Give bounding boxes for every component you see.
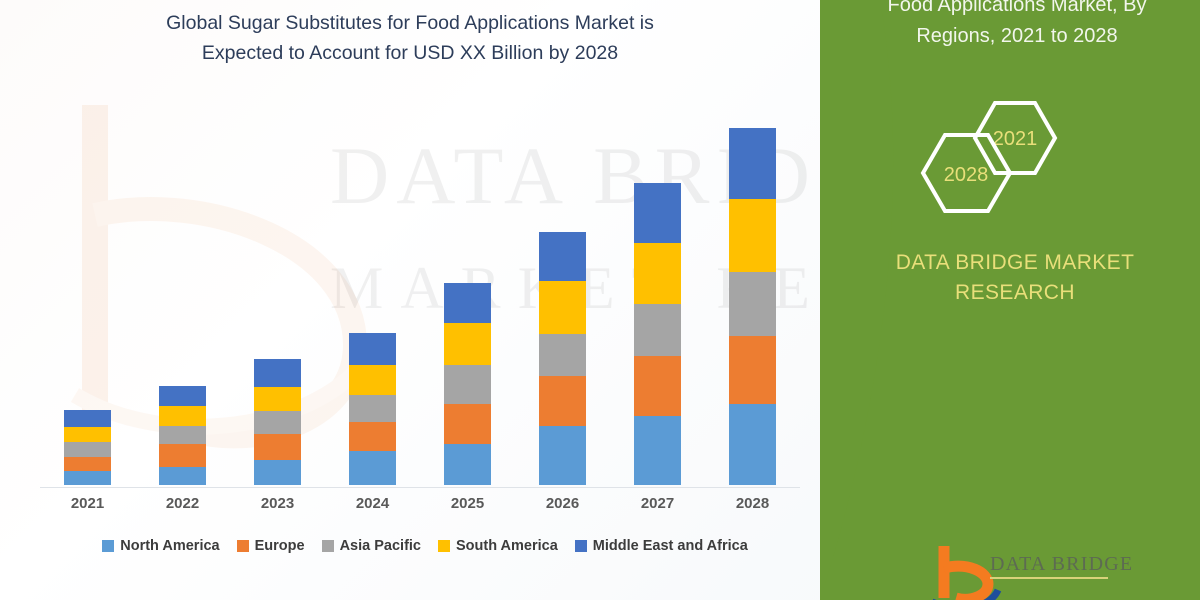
- stacked-bar-2025: [444, 283, 491, 485]
- bar-segment: [159, 386, 206, 406]
- legend-label: North America: [120, 538, 219, 554]
- bar-segment: [539, 376, 586, 426]
- bar-segment: [254, 460, 301, 486]
- legend-label: South America: [456, 538, 558, 554]
- bar-segment: [349, 422, 396, 452]
- bar-segment: [634, 243, 681, 304]
- chart-pane: DATA BRIDGE MARKET RESEARCH Global Sugar…: [0, 0, 880, 600]
- stacked-bar-2026: [539, 232, 586, 485]
- bar-column: [328, 100, 418, 485]
- bar-segment: [444, 283, 491, 323]
- data-bridge-logo-icon: DATA BRIDGE: [928, 542, 1178, 600]
- bar-segment: [159, 444, 206, 466]
- stacked-bar-2022: [159, 386, 206, 485]
- bar-segment: [64, 457, 111, 471]
- bar-column: [423, 100, 513, 485]
- bar-segment: [254, 434, 301, 460]
- legend-label: Middle East and Africa: [593, 538, 748, 554]
- bar-segment: [729, 404, 776, 485]
- bar-column: [138, 100, 228, 485]
- bar-segment: [539, 281, 586, 334]
- panel-title-line1: Food Applications Market, By: [852, 0, 1182, 21]
- stacked-bar-2023: [254, 359, 301, 485]
- legend-label: Europe: [255, 538, 305, 554]
- page-title-line2: Expected to Account for USD XX Billion b…: [60, 38, 760, 68]
- chart-legend: North AmericaEuropeAsia PacificSouth Ame…: [40, 538, 810, 554]
- stacked-bar-2024: [349, 333, 396, 485]
- bar-segment: [349, 333, 396, 365]
- bar-column: [233, 100, 323, 485]
- brand-name: DATA BRIDGE MARKET RESEARCH: [850, 248, 1180, 308]
- bar-segment: [159, 406, 206, 426]
- x-axis-label-2024: 2024: [328, 495, 418, 512]
- legend-label: Asia Pacific: [340, 538, 421, 554]
- legend-swatch-icon: [575, 540, 587, 552]
- x-axis-label-2026: 2026: [518, 495, 608, 512]
- brand-name-line2: RESEARCH: [850, 278, 1180, 308]
- bar-segment: [64, 427, 111, 441]
- plot-area: [40, 100, 800, 488]
- bar-segment: [254, 359, 301, 387]
- bar-segment: [254, 387, 301, 411]
- bar-segment: [64, 471, 111, 485]
- page-title: Global Sugar Substitutes for Food Applic…: [60, 8, 760, 68]
- bar-segment: [634, 416, 681, 485]
- brand-panel: Food Applications Market, By Regions, 20…: [820, 0, 1200, 600]
- bar-segment: [254, 411, 301, 434]
- legend-swatch-icon: [322, 540, 334, 552]
- bar-segment: [349, 365, 396, 395]
- x-axis-label-2025: 2025: [423, 495, 513, 512]
- bar-group: [40, 100, 800, 485]
- hexagon-2028-label: 2028: [944, 164, 989, 186]
- legend-item[interactable]: Middle East and Africa: [575, 538, 748, 554]
- hexagon-badges: 2021 2028: [900, 95, 1130, 225]
- bar-segment: [64, 442, 111, 457]
- bar-segment: [634, 356, 681, 416]
- legend-item[interactable]: Asia Pacific: [322, 538, 421, 554]
- x-axis-labels: 20212022202320242025202620272028: [40, 495, 800, 512]
- bar-segment: [539, 426, 586, 485]
- x-axis-label-2028: 2028: [708, 495, 798, 512]
- page-title-line1: Global Sugar Substitutes for Food Applic…: [60, 8, 760, 38]
- bar-column: [708, 100, 798, 485]
- bar-column: [43, 100, 133, 485]
- x-axis-line: [40, 487, 800, 488]
- bar-segment: [444, 404, 491, 445]
- infographic-root: DATA BRIDGE MARKET RESEARCH Global Sugar…: [0, 0, 1200, 600]
- bar-segment: [349, 395, 396, 421]
- stacked-bar-2027: [634, 183, 681, 485]
- legend-swatch-icon: [102, 540, 114, 552]
- x-axis-label-2021: 2021: [43, 495, 133, 512]
- bar-segment: [729, 336, 776, 404]
- bar-segment: [729, 128, 776, 199]
- bar-segment: [634, 183, 681, 244]
- legend-swatch-icon: [237, 540, 249, 552]
- x-axis-label-2023: 2023: [233, 495, 323, 512]
- bar-segment: [634, 304, 681, 356]
- stacked-bar-2021: [64, 410, 111, 485]
- x-axis-label-2027: 2027: [613, 495, 703, 512]
- bar-segment: [729, 199, 776, 272]
- legend-swatch-icon: [438, 540, 450, 552]
- hexagon-2021-label: 2021: [993, 128, 1038, 150]
- bar-column: [518, 100, 608, 485]
- panel-title-line2: Regions, 2021 to 2028: [852, 21, 1182, 52]
- bar-segment: [444, 365, 491, 404]
- bar-segment: [64, 410, 111, 427]
- bar-segment: [159, 467, 206, 485]
- panel-title: Food Applications Market, By Regions, 20…: [852, 0, 1182, 52]
- bar-segment: [539, 232, 586, 281]
- legend-item[interactable]: Europe: [237, 538, 305, 554]
- bar-segment: [444, 444, 491, 485]
- stacked-bar-2028: [729, 128, 776, 485]
- bar-segment: [539, 334, 586, 377]
- logo-text: DATA BRIDGE: [990, 553, 1133, 575]
- x-axis-label-2022: 2022: [138, 495, 228, 512]
- bar-column: [613, 100, 703, 485]
- legend-item[interactable]: South America: [438, 538, 558, 554]
- legend-item[interactable]: North America: [102, 538, 219, 554]
- bar-segment: [349, 451, 396, 485]
- bar-segment: [444, 323, 491, 366]
- bar-segment: [729, 272, 776, 336]
- bar-segment: [159, 426, 206, 444]
- brand-name-line1: DATA BRIDGE MARKET: [850, 248, 1180, 278]
